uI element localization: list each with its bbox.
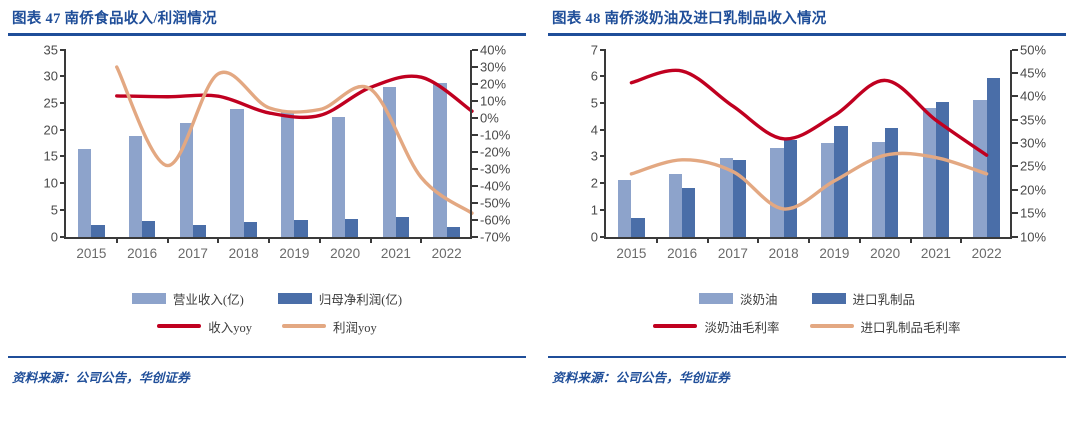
source-note-47: 资料来源：公司公告，华创证券 <box>8 358 526 386</box>
legend-47: 营业收入(亿)归母净利润(亿)收入yoy利润yoy <box>8 289 526 336</box>
y2-axis-label: 0% <box>480 110 499 125</box>
x-axis-label: 2022 <box>972 246 1002 261</box>
y-axis-label: 2 <box>591 176 598 191</box>
y2-axis-label: 20% <box>1020 182 1046 197</box>
x-tick <box>757 237 759 243</box>
figure-panel-47: 图表 47 南侨食品收入/利润情况 0510152025303520152016… <box>0 0 540 428</box>
legend-item: 利润yoy <box>282 317 377 336</box>
y2-tick <box>1012 189 1018 191</box>
y-axis-label: 1 <box>591 202 598 217</box>
y2-axis-label: -60% <box>480 212 510 227</box>
legend-item: 淡奶油毛利率 <box>653 317 779 336</box>
y-axis-label: 7 <box>591 42 598 57</box>
x-tick <box>960 237 962 243</box>
x-axis-label: 2018 <box>229 246 259 261</box>
legend-line-swatch <box>810 324 854 327</box>
legend-color-swatch <box>812 293 846 304</box>
x-tick <box>319 237 321 243</box>
figure-panel-48: 图表 48 南侨淡奶油及进口乳制品收入情况 012345672015201620… <box>540 0 1080 428</box>
x-axis-label: 2021 <box>381 246 411 261</box>
legend-label: 淡奶油毛利率 <box>704 317 779 336</box>
x-axis-label: 2018 <box>769 246 799 261</box>
y-axis-label: 0 <box>591 229 598 244</box>
line-series <box>117 67 472 213</box>
y-axis-label: 20 <box>44 122 58 137</box>
legend-color-swatch <box>278 293 312 304</box>
x-axis-label: 2020 <box>330 246 360 261</box>
x-axis-label: 2016 <box>667 246 697 261</box>
y2-axis-label: 50% <box>1020 42 1046 57</box>
legend-label: 收入yoy <box>208 317 252 336</box>
line-series <box>631 153 986 209</box>
y2-tick <box>472 66 478 68</box>
plot-area-48: 0123456720152016201720182019202020212022 <box>604 50 1012 239</box>
plot-area-47: 0510152025303520152016201720182019202020… <box>64 50 472 239</box>
y2-axis-label: -30% <box>480 161 510 176</box>
y-axis-label: 35 <box>44 42 58 57</box>
title-divider-47 <box>8 33 526 36</box>
figure-title-47: 图表 47 南侨食品收入/利润情况 <box>8 0 526 33</box>
y2-tick <box>1012 119 1018 121</box>
line-overlay <box>606 50 1012 237</box>
y2-tick <box>472 219 478 221</box>
y2-axis-label: 45% <box>1020 65 1046 80</box>
x-axis-label: 2022 <box>432 246 462 261</box>
legend-item: 营业收入(亿) <box>132 289 244 308</box>
x-axis-label: 2017 <box>718 246 748 261</box>
x-axis-label: 2020 <box>870 246 900 261</box>
legend-label: 进口乳制品 <box>853 289 916 308</box>
y2-axis-label: -50% <box>480 195 510 210</box>
x-axis-label: 2021 <box>921 246 951 261</box>
x-tick <box>217 237 219 243</box>
x-tick <box>859 237 861 243</box>
report-figures-page: 图表 47 南侨食品收入/利润情况 0510152025303520152016… <box>0 0 1080 428</box>
legend-row: 收入yoy利润yoy <box>157 317 377 336</box>
x-tick <box>268 237 270 243</box>
y2-tick <box>1012 142 1018 144</box>
legend-color-swatch <box>699 293 733 304</box>
legend-row: 淡奶油毛利率进口乳制品毛利率 <box>653 317 960 336</box>
x-axis-label: 2016 <box>127 246 157 261</box>
x-tick <box>808 237 810 243</box>
x-tick <box>116 237 118 243</box>
y2-axis-label: 30% <box>480 59 506 74</box>
right-axis-47: 40%30%20%10%0%-10%-20%-30%-40%-50%-60%-7… <box>470 50 472 239</box>
y2-axis-label: -40% <box>480 178 510 193</box>
x-tick <box>656 237 658 243</box>
y2-tick <box>472 236 478 238</box>
x-axis-label: 2019 <box>819 246 849 261</box>
y2-axis-label: 25% <box>1020 159 1046 174</box>
legend-48: 淡奶油进口乳制品淡奶油毛利率进口乳制品毛利率 <box>548 289 1066 336</box>
x-tick <box>707 237 709 243</box>
y2-tick <box>1012 165 1018 167</box>
y2-axis-label: 20% <box>480 76 506 91</box>
y-axis-label: 5 <box>591 95 598 110</box>
legend-label: 进口乳制品毛利率 <box>861 317 961 336</box>
x-tick <box>167 237 169 243</box>
y2-tick <box>1012 49 1018 51</box>
y-axis-label: 6 <box>591 69 598 84</box>
x-axis-label: 2015 <box>76 246 106 261</box>
legend-label: 营业收入(亿) <box>173 289 244 308</box>
y2-axis-label: 40% <box>1020 89 1046 104</box>
title-divider-48 <box>548 33 1066 36</box>
y2-axis-label: 40% <box>480 42 506 57</box>
line-overlay <box>66 50 472 237</box>
y-axis-label: 3 <box>591 149 598 164</box>
y2-axis-label: 10% <box>1020 229 1046 244</box>
y2-tick <box>472 100 478 102</box>
y2-tick <box>472 202 478 204</box>
legend-item: 归母净利润(亿) <box>278 289 402 308</box>
x-axis-label: 2015 <box>616 246 646 261</box>
legend-item: 淡奶油 <box>699 289 778 308</box>
y2-tick <box>472 117 478 119</box>
y2-axis-label: -20% <box>480 144 510 159</box>
y2-tick <box>1012 95 1018 97</box>
y2-tick <box>1012 236 1018 238</box>
y2-axis-label: 30% <box>1020 136 1046 151</box>
legend-color-swatch <box>132 293 166 304</box>
x-tick <box>370 237 372 243</box>
x-tick <box>420 237 422 243</box>
y2-tick <box>472 185 478 187</box>
legend-label: 归母净利润(亿) <box>319 289 402 308</box>
y2-tick <box>472 49 478 51</box>
y2-axis-label: -70% <box>480 229 510 244</box>
chart-48: 0123456720152016201720182019202020212022… <box>548 42 1066 287</box>
y-axis-label: 0 <box>51 229 58 244</box>
legend-row: 淡奶油进口乳制品 <box>699 289 915 308</box>
y2-axis-label: 15% <box>1020 206 1046 221</box>
y2-axis-label: -10% <box>480 127 510 142</box>
chart-47: 0510152025303520152016201720182019202020… <box>8 42 526 287</box>
legend-line-swatch <box>282 324 326 327</box>
legend-line-swatch <box>653 324 697 327</box>
y-axis-label: 10 <box>44 176 58 191</box>
legend-item: 进口乳制品 <box>812 289 916 308</box>
y2-tick <box>472 134 478 136</box>
legend-line-swatch <box>157 324 201 327</box>
x-axis-label: 2017 <box>178 246 208 261</box>
legend-label: 淡奶油 <box>740 289 778 308</box>
source-note-48: 资料来源：公司公告，华创证券 <box>548 358 1066 386</box>
y2-axis-label: 35% <box>1020 112 1046 127</box>
y2-tick <box>472 151 478 153</box>
y-axis-label: 15 <box>44 149 58 164</box>
y-axis-label: 5 <box>51 202 58 217</box>
x-axis-label: 2019 <box>279 246 309 261</box>
x-tick <box>910 237 912 243</box>
y2-tick <box>1012 72 1018 74</box>
legend-item: 收入yoy <box>157 317 252 336</box>
y-axis-label: 4 <box>591 122 598 137</box>
legend-item: 进口乳制品毛利率 <box>810 317 961 336</box>
legend-row: 营业收入(亿)归母净利润(亿) <box>132 289 402 308</box>
figure-title-48: 图表 48 南侨淡奶油及进口乳制品收入情况 <box>548 0 1066 33</box>
right-axis-48: 50%45%40%35%30%25%20%15%10% <box>1010 50 1012 239</box>
y-axis-label: 30 <box>44 69 58 84</box>
y2-axis-label: 10% <box>480 93 506 108</box>
y-axis-label: 25 <box>44 95 58 110</box>
legend-label: 利润yoy <box>333 317 377 336</box>
y2-tick <box>472 168 478 170</box>
line-series <box>631 70 986 155</box>
y2-tick <box>1012 212 1018 214</box>
y2-tick <box>472 83 478 85</box>
